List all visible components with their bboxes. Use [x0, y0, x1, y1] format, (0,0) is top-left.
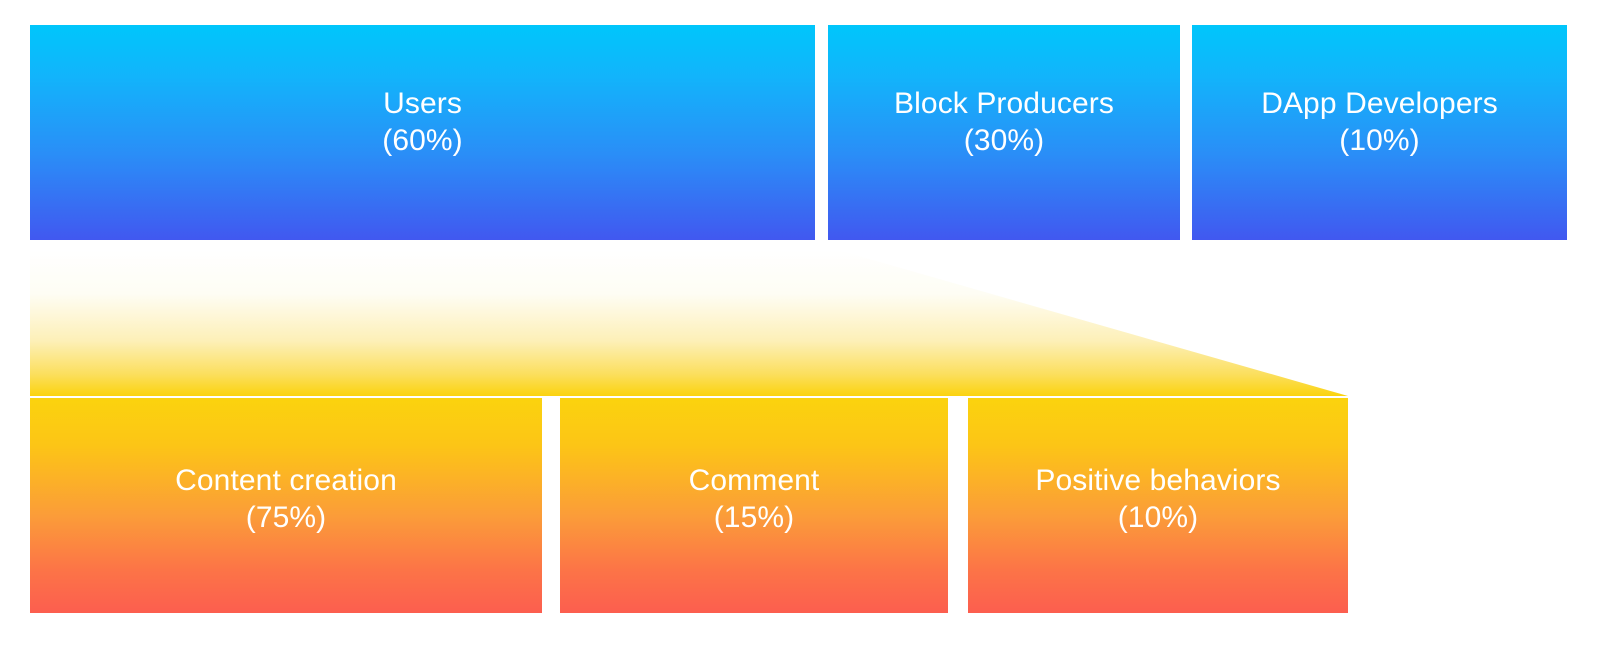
- block-label: Users: [382, 86, 463, 123]
- tier-behavior-block-comment[interactable]: Comment (15%): [560, 398, 948, 613]
- block-text-stack: Comment (15%): [689, 463, 820, 536]
- tier-audience-block-block-producers[interactable]: Block Producers (30%): [828, 25, 1180, 240]
- block-label: Block Producers: [894, 86, 1114, 123]
- block-percent: (30%): [894, 123, 1114, 160]
- block-text-stack: Block Producers (30%): [894, 86, 1114, 159]
- tier-behavior-block-content-creation[interactable]: Content creation (75%): [30, 398, 542, 613]
- funnel-connector-shape: [30, 250, 1348, 396]
- block-text-stack: Content creation (75%): [175, 463, 397, 536]
- block-label: Content creation: [175, 463, 397, 500]
- block-text-stack: Positive behaviors (10%): [1035, 463, 1280, 536]
- block-percent: (60%): [382, 123, 463, 160]
- block-text-stack: DApp Developers (10%): [1261, 86, 1498, 159]
- block-percent: (15%): [689, 500, 820, 537]
- block-percent: (75%): [175, 500, 397, 537]
- block-percent: (10%): [1035, 500, 1280, 537]
- block-label: Comment: [689, 463, 820, 500]
- tier-audience-block-users[interactable]: Users (60%): [30, 25, 815, 240]
- block-label: DApp Developers: [1261, 86, 1498, 123]
- tier-behavior-block-positive-behaviors[interactable]: Positive behaviors (10%): [968, 398, 1348, 613]
- tier-audience-block-dapp-developers[interactable]: DApp Developers (10%): [1192, 25, 1567, 240]
- block-text-stack: Users (60%): [382, 86, 463, 159]
- funnel-connector: [30, 250, 1348, 396]
- block-percent: (10%): [1261, 123, 1498, 160]
- block-label: Positive behaviors: [1035, 463, 1280, 500]
- diagram-canvas: Users (60%) Block Producers (30%) DApp D…: [0, 0, 1600, 663]
